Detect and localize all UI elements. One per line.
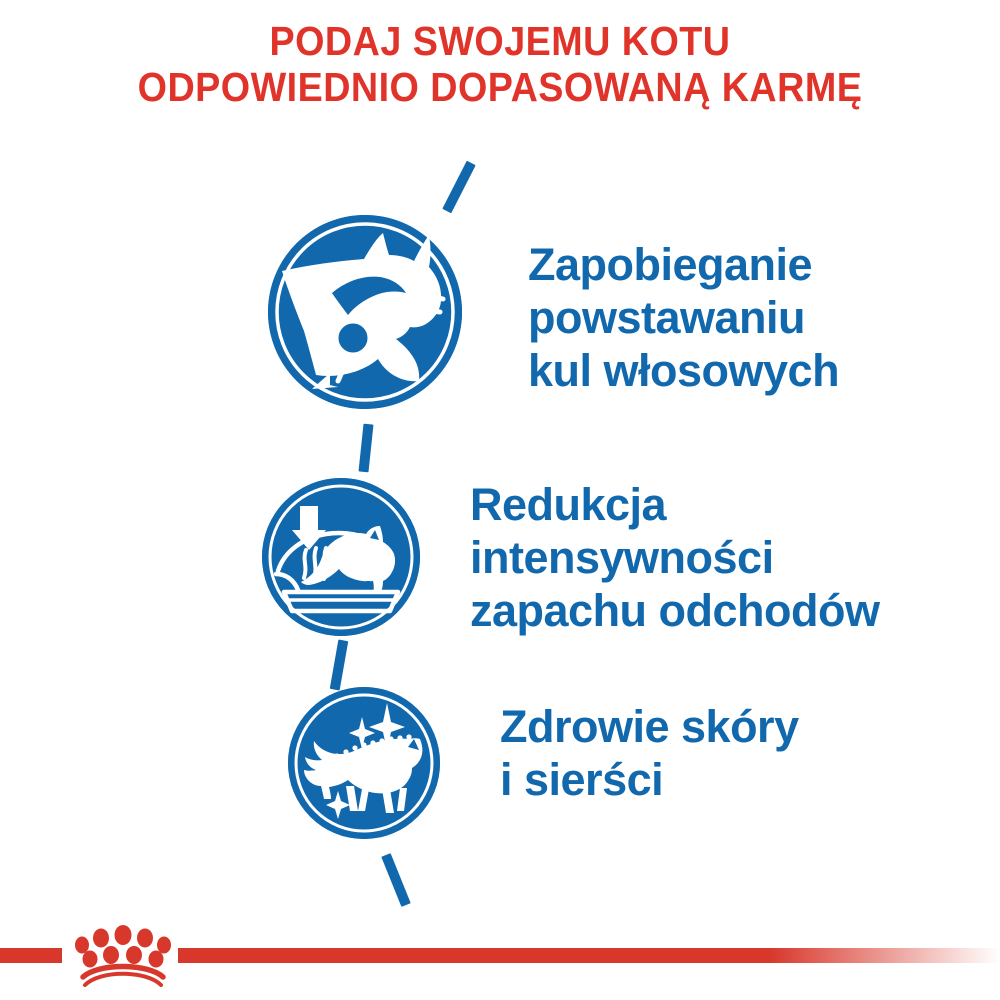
benefit-2-line-2: intensywności [470,531,880,584]
footer-rule-right [178,948,1000,963]
page-title: PODAJ SWOJEMU KOTU ODPOWIEDNIO DOPASOWAN… [40,18,960,110]
connector-dash-bottom [381,853,411,907]
connector-dash-2-3 [330,640,349,691]
benefit-text-skin-coat: Zdrowie skóry i sierści [500,700,799,806]
benefit-2-line-1: Redukcja [470,478,880,531]
benefit-1-line-1: Zapobieganie [528,238,839,291]
footer-rule-left [0,948,62,963]
cat-skin-coat-sparkle-icon [288,687,440,839]
benefit-1-line-2: powstawaniu [528,291,839,344]
cat-litter-box-odour-icon [262,478,420,636]
benefit-1-line-3: kul włosowych [528,344,839,397]
connector-dash-1-2 [359,424,374,473]
benefit-3-line-2: i sierści [500,753,799,806]
benefit-2-line-3: zapachu odchodów [470,584,880,637]
headline-line-1: PODAJ SWOJEMU KOTU [40,18,960,64]
benefit-text-odour: Redukcja intensywności zapachu odchodów [470,478,880,637]
benefit-3-line-1: Zdrowie skóry [500,700,799,753]
cat-hairball-icon [268,215,462,409]
promo-banner: PODAJ SWOJEMU KOTU ODPOWIEDNIO DOPASOWAN… [0,0,1000,1000]
headline-line-2: ODPOWIEDNIO DOPASOWANĄ KARMĘ [40,64,960,110]
royal-canin-crown-logo [68,925,178,987]
connector-dash-top [442,161,475,214]
benefit-text-hairball: Zapobieganie powstawaniu kul włosowych [528,238,839,397]
